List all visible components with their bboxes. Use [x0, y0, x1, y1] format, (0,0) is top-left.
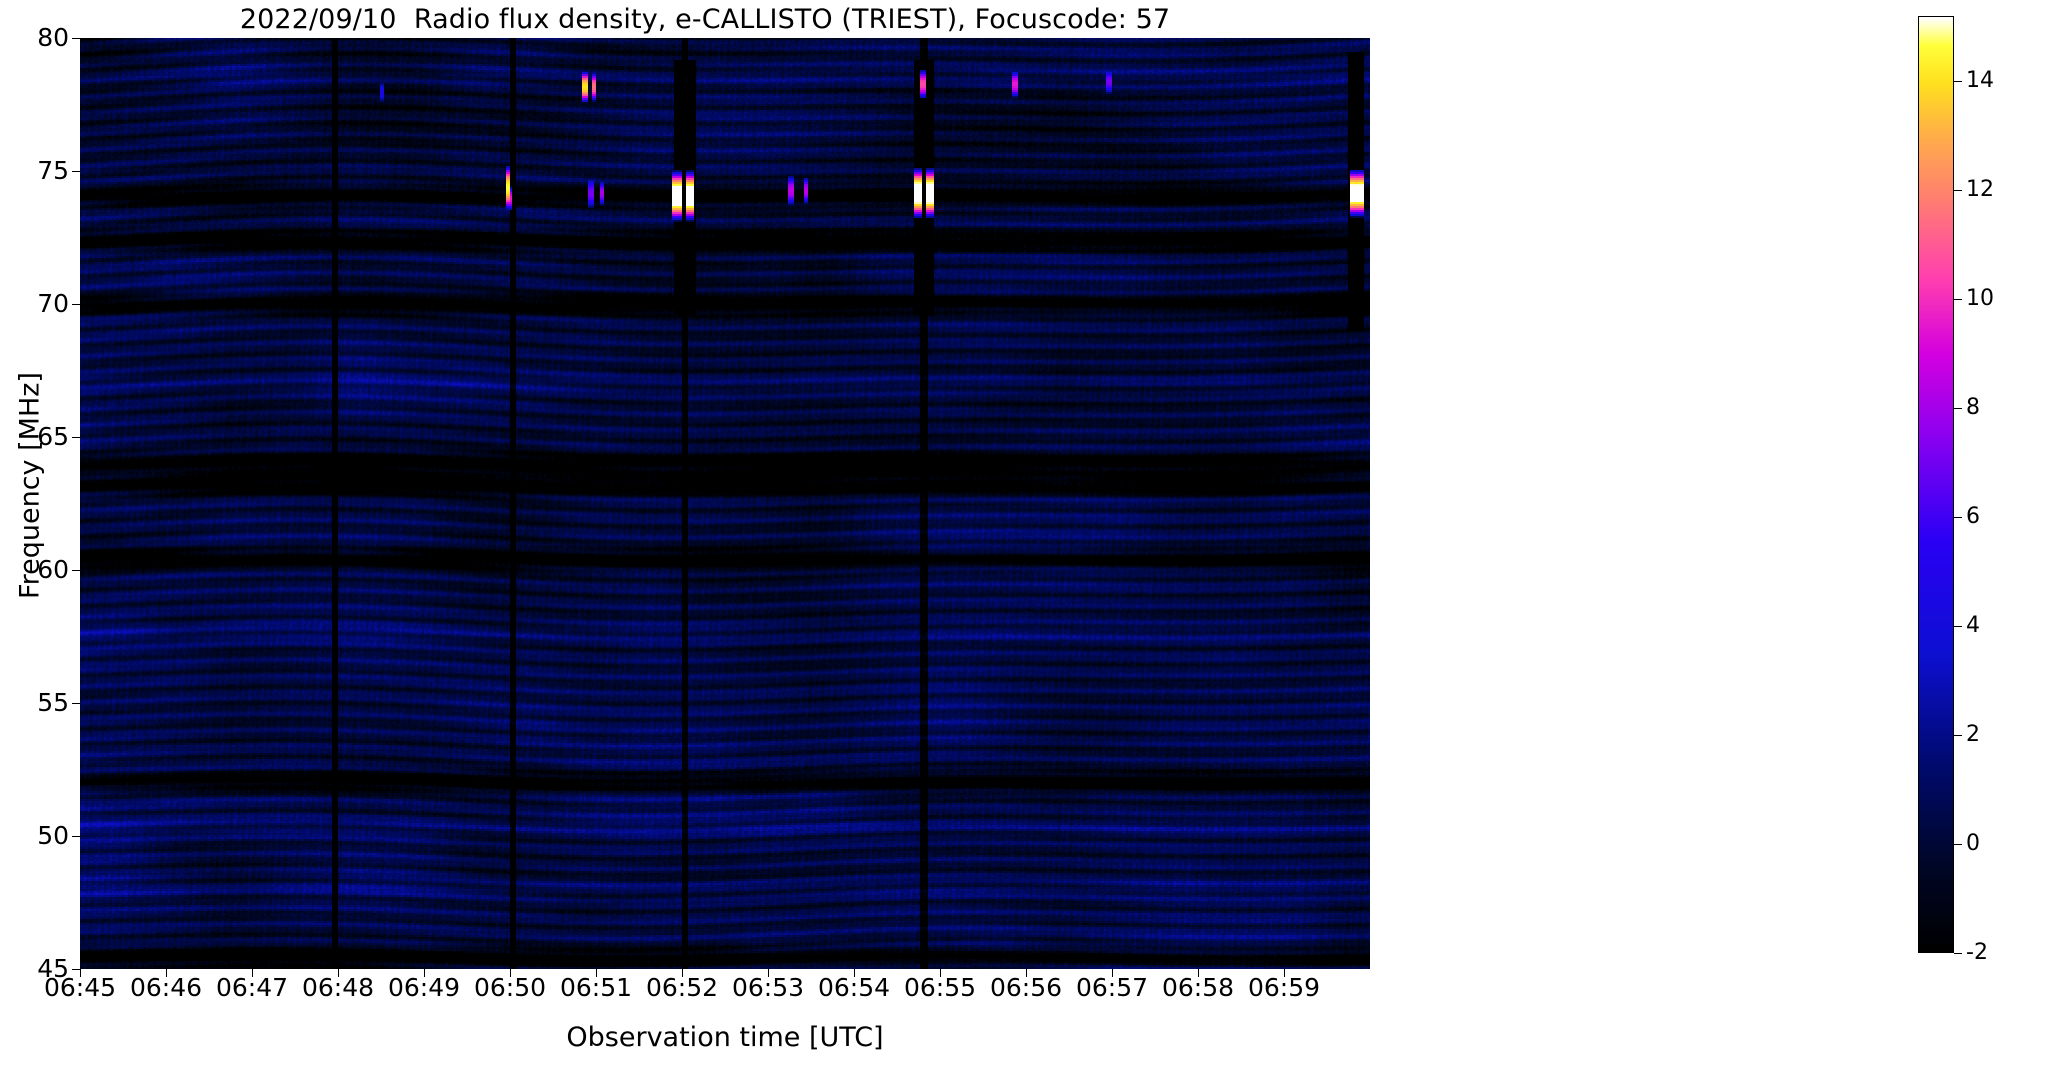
x-axis-tick-mark	[252, 969, 253, 977]
x-axis-tick-label: 06:58	[1162, 975, 1234, 1000]
y-axis-tick-mark	[72, 437, 80, 438]
x-axis-tick-mark	[166, 969, 167, 977]
x-axis-tick-mark	[338, 969, 339, 977]
x-axis-tick-mark	[1284, 969, 1285, 977]
figure-root: 2022/09/10 Radio flux density, e-CALLIST…	[0, 0, 2047, 1067]
colorbar-tick-mark	[1954, 81, 1962, 82]
x-axis-tick-label: 06:56	[990, 975, 1062, 1000]
colorbar-tick-label: -2	[1966, 942, 1988, 964]
y-axis-tick-mark	[72, 171, 80, 172]
x-axis-tick-mark	[768, 969, 769, 977]
y-axis-label: Frequency [MHz]	[15, 251, 46, 721]
colorbar-tick-mark	[1954, 844, 1962, 845]
colorbar-tick-mark	[1954, 299, 1962, 300]
x-axis-tick-mark	[424, 969, 425, 977]
x-axis-tick-label: 06:45	[44, 975, 116, 1000]
x-axis-tick-mark	[940, 969, 941, 977]
colorbar-tick-label: 6	[1966, 506, 1980, 528]
colorbar-tick-label: 14	[1966, 70, 1994, 92]
x-axis-label: Observation time [UTC]	[80, 1022, 1370, 1053]
y-axis-tick-mark	[72, 703, 80, 704]
x-axis-tick-mark	[1198, 969, 1199, 977]
x-axis-tick-label: 06:54	[818, 975, 890, 1000]
colorbar-tick-label: 10	[1966, 288, 1994, 310]
y-axis-tick-mark	[72, 836, 80, 837]
y-axis-tick-mark	[72, 969, 80, 970]
x-axis-tick-mark	[510, 969, 511, 977]
y-axis-tick-label: 50	[37, 823, 69, 848]
colorbar-tick-mark	[1954, 735, 1962, 736]
x-axis-tick-label: 06:52	[646, 975, 718, 1000]
x-axis-tick-label: 06:55	[904, 975, 976, 1000]
colorbar-canvas	[1919, 17, 1953, 952]
colorbar-tick-mark	[1954, 190, 1962, 191]
colorbar[interactable]	[1918, 16, 1954, 953]
x-axis-tick-label: 06:53	[732, 975, 804, 1000]
colorbar-tick-mark	[1954, 517, 1962, 518]
x-axis-tick-label: 06:46	[130, 975, 202, 1000]
colorbar-tick-label: 8	[1966, 397, 1980, 419]
y-axis-tick-mark	[72, 304, 80, 305]
x-axis-tick-label: 06:50	[474, 975, 546, 1000]
spectrogram-canvas[interactable]	[80, 38, 1370, 969]
figure-title: 2022/09/10 Radio flux density, e-CALLIST…	[0, 4, 1410, 35]
colorbar-tick-label: 0	[1966, 833, 1980, 855]
x-axis-tick-label: 06:48	[302, 975, 374, 1000]
y-axis-tick-label: 75	[37, 158, 69, 183]
x-axis-tick-label: 06:49	[388, 975, 460, 1000]
colorbar-tick-label: 4	[1966, 615, 1980, 637]
x-axis-tick-mark	[1112, 969, 1113, 977]
y-axis-tick-label: 80	[37, 25, 69, 50]
x-axis-tick-label: 06:51	[560, 975, 632, 1000]
x-axis-tick-label: 06:59	[1248, 975, 1320, 1000]
x-axis-tick-mark	[1026, 969, 1027, 977]
colorbar-tick-mark	[1954, 408, 1962, 409]
colorbar-tick-mark	[1954, 626, 1962, 627]
colorbar-tick-label: 2	[1966, 724, 1980, 746]
y-axis-tick-mark	[72, 570, 80, 571]
x-axis-tick-mark	[682, 969, 683, 977]
x-axis-tick-mark	[80, 969, 81, 977]
spectrogram-plot-area[interactable]	[80, 38, 1370, 969]
x-axis-tick-mark	[596, 969, 597, 977]
colorbar-tick-mark	[1954, 953, 1962, 954]
x-axis-tick-label: 06:57	[1076, 975, 1148, 1000]
x-axis-tick-label: 06:47	[216, 975, 288, 1000]
colorbar-tick-label: 12	[1966, 179, 1994, 201]
x-axis-tick-mark	[854, 969, 855, 977]
y-axis-tick-mark	[72, 38, 80, 39]
